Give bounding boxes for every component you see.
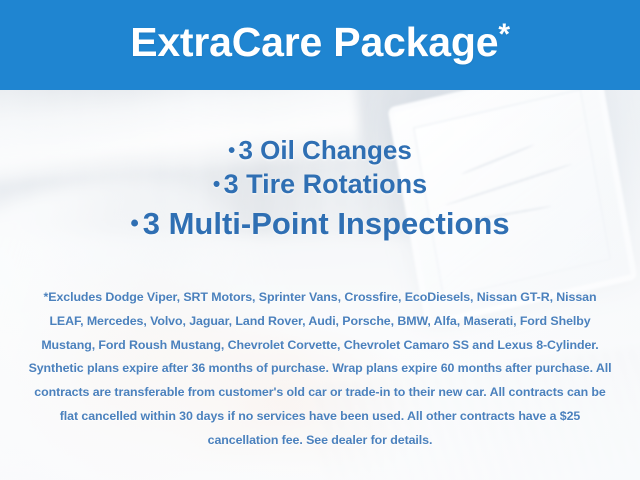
benefit-item-oil-changes: •3 Oil Changes <box>0 134 640 166</box>
bullet-icon: • <box>213 173 220 196</box>
benefit-item-multi-point-inspections: •3 Multi-Point Inspections <box>0 205 640 243</box>
bullet-icon: • <box>228 140 235 162</box>
header-band: ExtraCare Package* <box>0 0 640 90</box>
page-title: ExtraCare Package* <box>130 22 510 63</box>
benefit-item-tire-rotations: •3 Tire Rotations <box>0 168 640 201</box>
page-title-asterisk: * <box>498 18 509 51</box>
disclaimer-text: *Excludes Dodge Viper, SRT Motors, Sprin… <box>26 286 614 453</box>
bullet-icon: • <box>130 210 138 237</box>
benefit-item-label: 3 Multi-Point Inspections <box>143 206 510 241</box>
benefit-item-label: 3 Oil Changes <box>238 135 411 165</box>
benefit-item-label: 3 Tire Rotations <box>224 169 428 199</box>
benefits-list: •3 Oil Changes •3 Tire Rotations •3 Mult… <box>0 134 640 243</box>
extracare-package-promo-card: ExtraCare Package* •3 Oil Changes •3 Tir… <box>0 0 640 480</box>
page-title-text: ExtraCare Package <box>130 19 498 65</box>
